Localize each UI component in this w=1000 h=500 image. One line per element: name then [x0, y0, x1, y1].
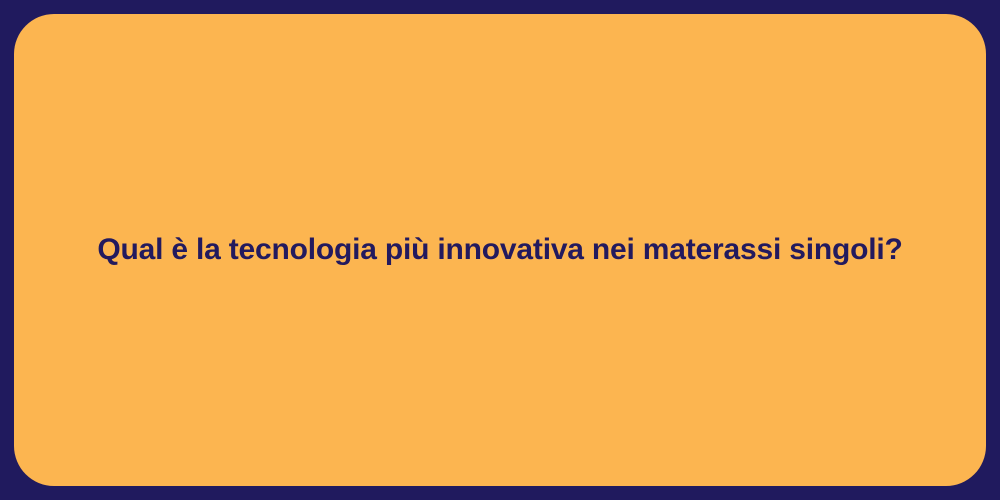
question-card-panel: Qual è la tecnologia più innovativa nei …	[14, 14, 986, 486]
card-background: Qual è la tecnologia più innovativa nei …	[0, 0, 1000, 500]
page-title: Qual è la tecnologia più innovativa nei …	[70, 230, 930, 271]
